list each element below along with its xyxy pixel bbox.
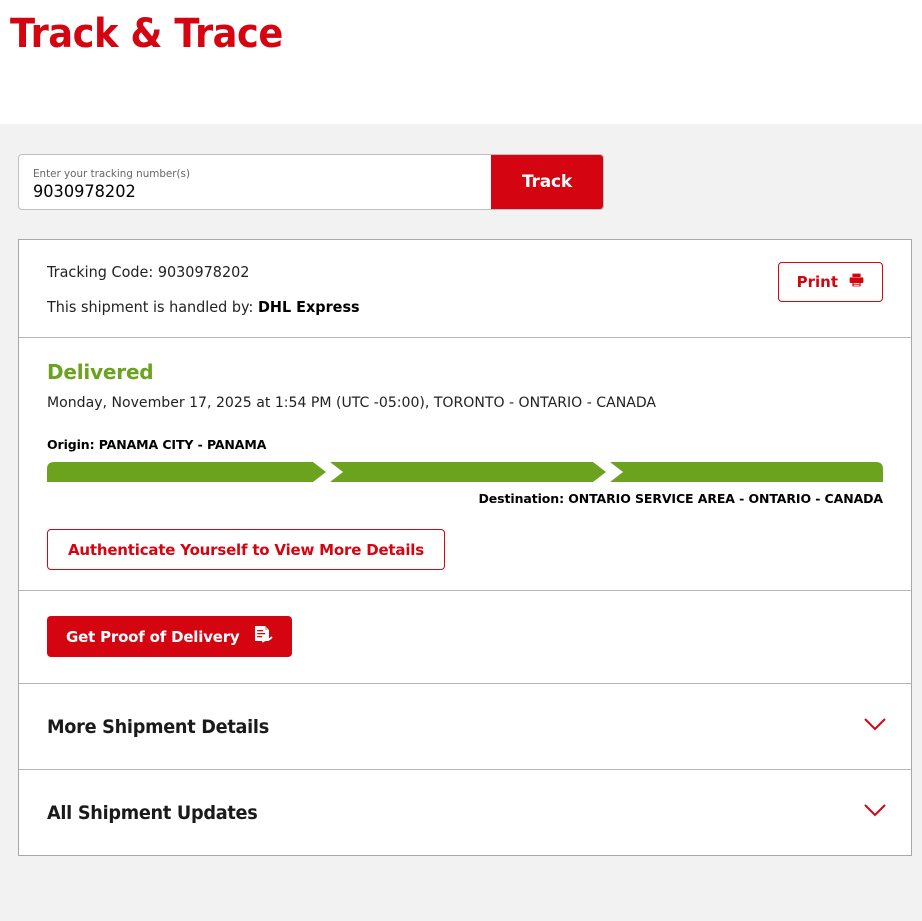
progress-segment-2 (330, 462, 606, 482)
progress-segment-3 (610, 462, 883, 482)
progress-end-tail (869, 469, 883, 482)
handled-by-prefix: This shipment is handled by: (47, 298, 253, 316)
pod-button-label: Get Proof of Delivery (66, 628, 240, 646)
document-signature-icon (254, 625, 273, 649)
tracking-number-label: Enter your tracking number(s) (33, 167, 464, 181)
shipment-progress-bar (47, 461, 883, 483)
chevron-down-icon[interactable] (863, 717, 887, 736)
accordion-all-shipment-updates[interactable]: All Shipment Updates (19, 770, 911, 855)
print-button[interactable]: Print (778, 262, 883, 302)
shipment-header: Tracking Code: 9030978202 This shipment … (19, 240, 911, 337)
shipment-header-text: Tracking Code: 9030978202 This shipment … (47, 261, 373, 317)
progress-segments (47, 461, 883, 483)
tracking-search-area: Enter your tracking number(s) 9030978202… (0, 124, 922, 210)
tracking-number-field[interactable]: Enter your tracking number(s) 9030978202 (19, 155, 491, 209)
status-detail: Monday, November 17, 2025 at 1:54 PM (UT… (47, 394, 858, 413)
tracking-code: Tracking Code: 9030978202 (47, 262, 360, 282)
accordion-title: More Shipment Details (47, 716, 269, 738)
print-button-label: Print (797, 273, 838, 291)
page-title: Track & Trace (10, 12, 849, 56)
handled-by: This shipment is handled by: DHL Express (47, 297, 360, 317)
proof-of-delivery-section: Get Proof of Delivery (19, 591, 911, 683)
chevron-down-icon[interactable] (863, 803, 887, 822)
accordion-more-shipment-details[interactable]: More Shipment Details (19, 684, 911, 769)
page-header: Track & Trace (0, 0, 922, 124)
shipment-status-section: Delivered Monday, November 17, 2025 at 1… (19, 338, 911, 590)
page-body: Enter your tracking number(s) 9030978202… (0, 124, 922, 921)
get-proof-of-delivery-button[interactable]: Get Proof of Delivery (47, 616, 292, 657)
shipment-result-card: Tracking Code: 9030978202 This shipment … (18, 239, 912, 856)
progress-segment-1 (47, 462, 326, 482)
printer-icon (849, 273, 864, 291)
origin-label: Origin: PANAMA CITY - PANAMA (47, 437, 883, 453)
destination-label: Destination: ONTARIO SERVICE AREA - ONTA… (47, 491, 883, 507)
status-badge: Delivered (47, 360, 883, 384)
accordion-title: All Shipment Updates (47, 802, 257, 824)
carrier-name: DHL Express (258, 298, 360, 316)
authenticate-button[interactable]: Authenticate Yourself to View More Detai… (47, 529, 445, 570)
track-button[interactable]: Track (491, 155, 603, 209)
search-input[interactable]: 9030978202 (33, 181, 468, 203)
tracking-search-box[interactable]: Enter your tracking number(s) 9030978202… (18, 154, 604, 210)
